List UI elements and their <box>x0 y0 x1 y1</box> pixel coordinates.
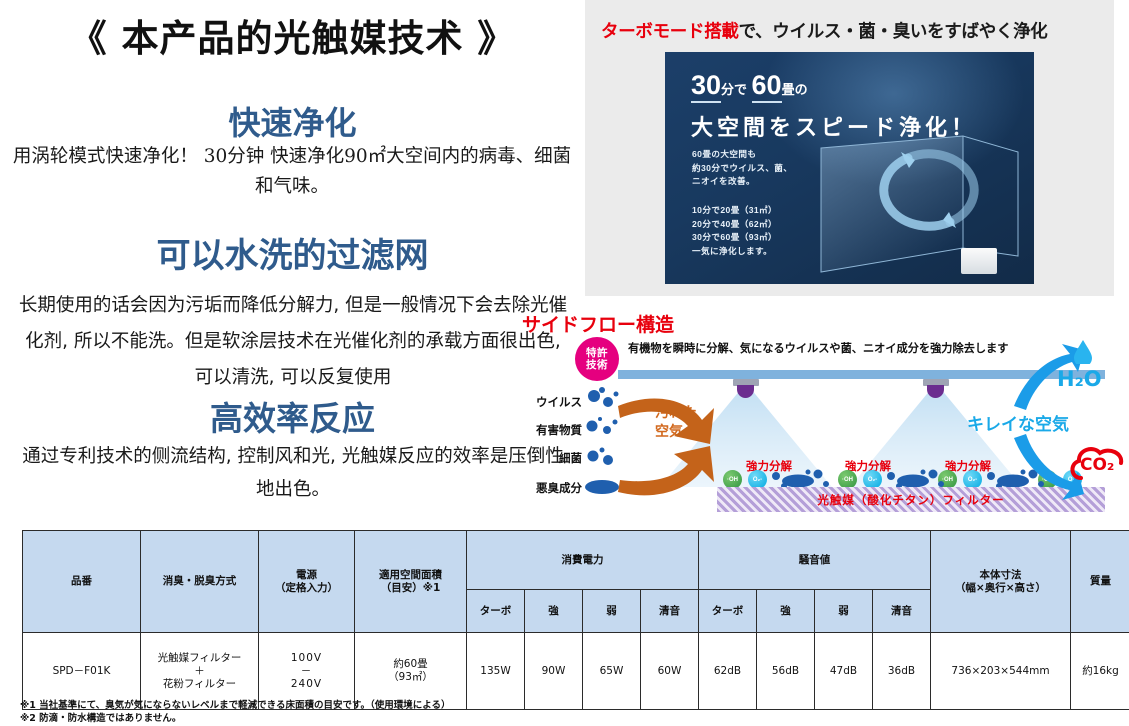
cell-consumption-high: 90W <box>525 633 583 710</box>
left-text-column: 《 本产品的光触媒技术 》 快速净化 用涡轮模式快速净化！ 30分钟 快速净化9… <box>0 0 585 520</box>
col-header-model: 品番 <box>23 531 141 633</box>
col-header-consumption: 消費電力 <box>467 531 699 590</box>
footnotes: ※1 当社基準にて、臭気が気にならないレベルまで軽減できる床面積の目安です。（使… <box>20 700 451 725</box>
subheader-noise-quiet: 清音 <box>873 590 931 633</box>
promo-card-line1: 30分で 60畳の <box>691 70 808 101</box>
footnote-2: ※2 防滴・防水構造ではありません。 <box>20 713 451 726</box>
promo-headline: ターボモード搭載で、ウイルス・菌・臭いをすばやく浄化 <box>601 18 1106 43</box>
cell-weight: 約16kg <box>1071 633 1129 710</box>
cell-model: SPD－F01K <box>23 633 141 710</box>
subheader-consumption-turbo: ターボ <box>467 590 525 633</box>
table-header-row-top: 品番 消臭・脱臭方式 電源 （定格入力） 適用空間面積 （目安）※1 消費電力 … <box>23 531 1129 590</box>
cell-consumption-turbo: 135W <box>467 633 525 710</box>
table-row: SPD－F01K 光触媒フィルター ＋ 花粉フィルター 100V － 240V … <box>23 633 1129 710</box>
air-purifier-unit-icon <box>961 248 997 274</box>
subheader-noise-high: 強 <box>757 590 815 633</box>
promo-card-detail-2: 10分で20畳（31㎡） 20分で40畳（62㎡） 30分で60畳（93㎡） 一… <box>692 204 777 258</box>
patent-badge-line1: 特許 <box>586 347 608 359</box>
promo-card-line2: 大空間をスピード浄化！ <box>691 110 977 142</box>
section-heading-high-efficiency: 高效率反应 <box>0 392 585 440</box>
cell-noise-low: 47dB <box>815 633 873 710</box>
col-header-method: 消臭・脱臭方式 <box>141 531 259 633</box>
subheader-consumption-high: 強 <box>525 590 583 633</box>
promo-headline-highlight: ターボモード搭載 <box>601 22 739 42</box>
label-bacteria: 細菌 <box>520 450 582 466</box>
label-harmful-substance: 有害物質 <box>520 422 582 438</box>
col-header-power-input: 電源 （定格入力） <box>259 531 355 633</box>
subheader-consumption-low: 弱 <box>583 590 641 633</box>
cell-noise-high: 56dB <box>757 633 815 710</box>
section-heading-fast-purification: 快速净化 <box>0 98 585 144</box>
label-odor: 悪臭成分 <box>520 480 582 496</box>
promo-big-unit-1: 分で <box>721 82 747 97</box>
section-body-fast-purification: 用涡轮模式快速净化！ 30分钟 快速净化90㎡大空间内的病毒、细菌和气味。 <box>12 142 572 202</box>
cell-noise-turbo: 62dB <box>699 633 757 710</box>
promo-panel: ターボモード搭載で、ウイルス・菌・臭いをすばやく浄化 30分で 60畳の 大空間… <box>585 0 1114 296</box>
section-body-washable-filter: 长期使用的话会因为污垢而降低分解力, 但是一般情况下会去除光催化剂, 所以不能洗… <box>18 288 568 396</box>
section-body-high-efficiency: 通过专利技术的侧流结构, 控制风和光, 光触媒反应的效率是压倒性地出色。 <box>18 440 568 506</box>
cell-consumption-quiet: 60W <box>641 633 699 710</box>
promo-big-number-30: 30 <box>691 70 721 103</box>
cell-noise-quiet: 36dB <box>873 633 931 710</box>
section-heading-washable-filter: 可以水洗的过滤网 <box>0 228 585 277</box>
col-header-noise: 騒音値 <box>699 531 931 590</box>
promo-card-detail-1: 60畳の大空間も 約30分でウイルス、菌、 ニオイを改善。 <box>692 148 792 189</box>
side-flow-diagram: 特許 技術 有機物を瞬時に分解、気になるウイルスや菌、ニオイ成分を強力除去します… <box>520 332 1129 522</box>
cell-consumption-low: 65W <box>583 633 641 710</box>
page-title: 《 本产品的光触媒技术 》 <box>0 8 585 62</box>
flow-diagram-caption: 有機物を瞬時に分解、気になるウイルスや菌、ニオイ成分を強力除去します <box>628 340 1008 356</box>
cell-dimensions: 736×203×544mm <box>931 633 1071 710</box>
subheader-consumption-quiet: 清音 <box>641 590 699 633</box>
specification-table: 品番 消臭・脱臭方式 電源 （定格入力） 適用空間面積 （目安）※1 消費電力 … <box>22 530 1129 710</box>
water-drop-icon <box>1073 338 1093 364</box>
cell-area: 約60畳 （93㎡） <box>355 633 467 710</box>
footnote-1: ※1 当社基準にて、臭気が気にならないレベルまで軽減できる床面積の目安です。（使… <box>20 700 451 713</box>
label-virus: ウイルス <box>520 394 582 410</box>
h2o-label: H₂O <box>1057 367 1102 391</box>
cell-power-input: 100V － 240V <box>259 633 355 710</box>
promo-big-unit-2: 畳の <box>782 82 808 97</box>
promo-big-number-60: 60 <box>752 70 782 103</box>
co2-label: CO₂ <box>1080 455 1114 475</box>
col-header-dimensions: 本体寸法 （幅×奥行×高さ） <box>931 531 1071 633</box>
patent-badge-line2: 技術 <box>586 359 608 371</box>
clean-air-label: キレイな空気 <box>967 410 1069 435</box>
subheader-noise-turbo: ターボ <box>699 590 757 633</box>
dirty-air-arrows-icon <box>610 384 720 504</box>
patent-badge: 特許 技術 <box>575 337 619 381</box>
cell-method: 光触媒フィルター ＋ 花粉フィルター <box>141 633 259 710</box>
promo-headline-rest: で、ウイルス・菌・臭いをすばやく浄化 <box>739 22 1048 42</box>
col-header-weight: 質量 <box>1071 531 1129 633</box>
promo-card: 30分で 60畳の 大空間をスピード浄化！ 60畳の大空間も 約30分でウイルス… <box>665 52 1034 284</box>
col-header-area: 適用空間面積 （目安）※1 <box>355 531 467 633</box>
subheader-noise-low: 弱 <box>815 590 873 633</box>
